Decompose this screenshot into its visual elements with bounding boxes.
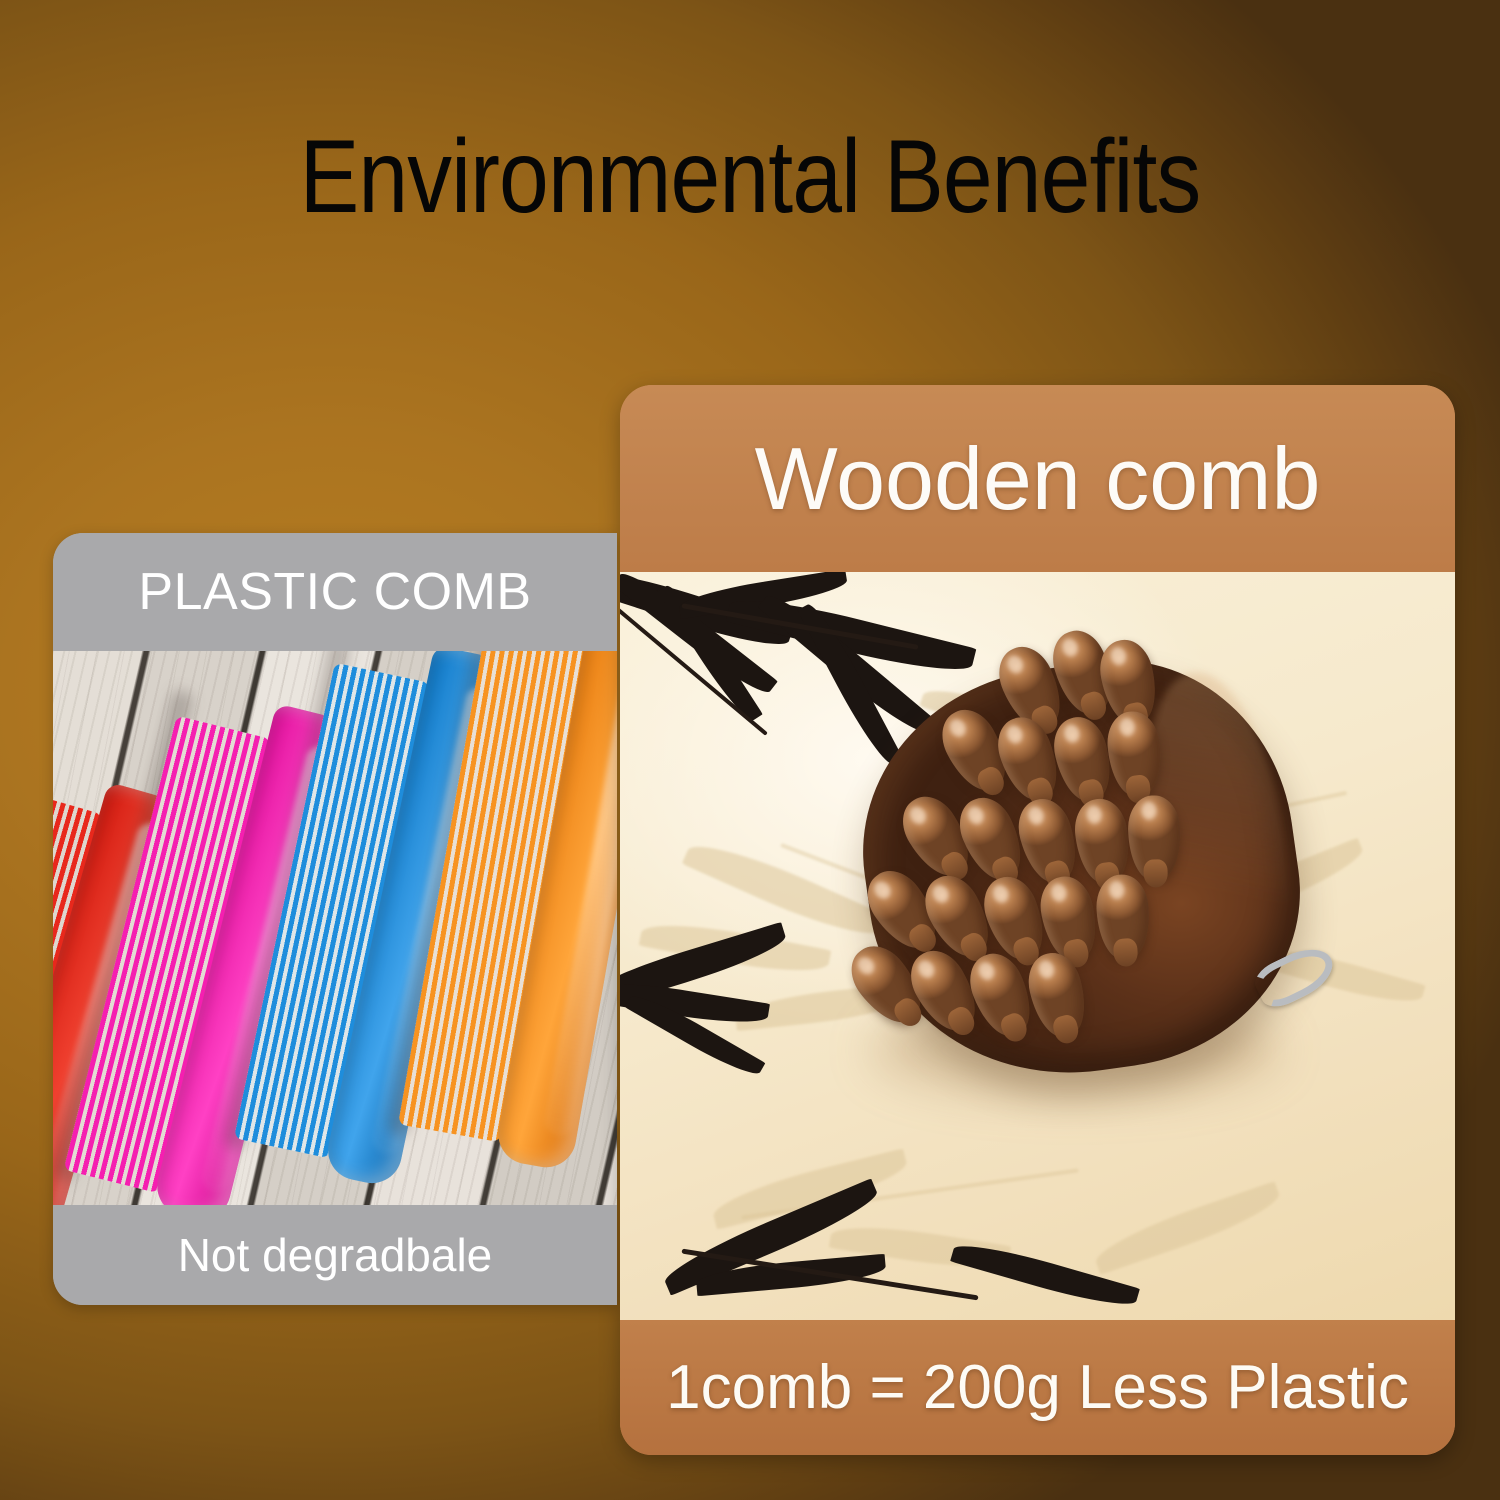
wooden-card-footer-label: 1comb = 200g Less Plastic [620,1320,1455,1455]
plastic-card-footer-label: Not degradbale [53,1205,617,1305]
wooden-comb-photo [620,572,1455,1320]
poster-canvas: Environmental Benefits PLASTIC COMB [0,0,1500,1500]
plastic-comb-photo [53,651,617,1205]
wooden-card-header-label: Wooden comb [620,385,1455,572]
wooden-comb-card: Wooden comb [620,385,1455,1455]
wooden-massager-comb [840,638,1322,1099]
page-title: Environmental Benefits [105,120,1395,234]
plastic-comb-card: PLASTIC COMB [53,533,617,1305]
plastic-card-header-label: PLASTIC COMB [53,533,617,651]
